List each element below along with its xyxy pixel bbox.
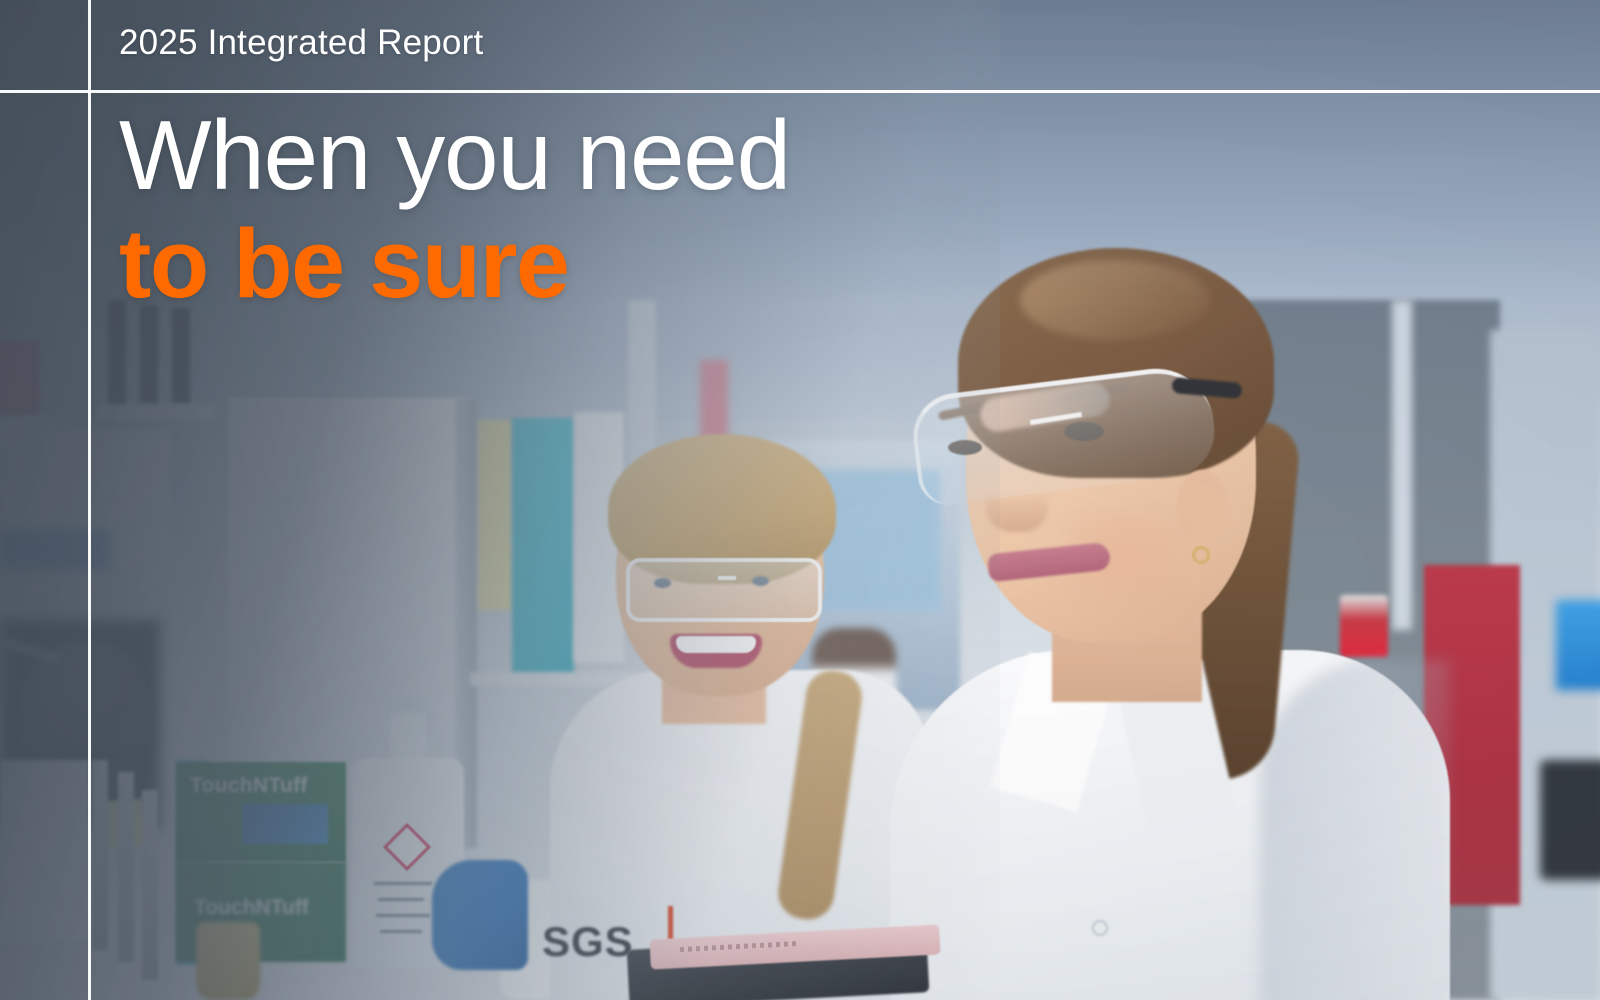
hair-highlight [1020,260,1210,340]
vertical-rule [88,0,91,1000]
glove-box-label: TouchNTuff [190,774,308,798]
yellow-shelf-item [478,420,512,610]
blue-monitor-screen [1556,600,1600,690]
glove-box-swatch [242,804,328,844]
cover-headline: When you need to be sure [119,105,790,314]
instrument-panel [0,760,90,940]
glove-box-label: TouchNTuff [194,896,309,920]
pipette [92,760,108,950]
rack-base [0,415,52,449]
foreground-scientist [880,230,1480,1000]
headline-line-2-accent: to be sure [119,214,790,314]
pipette [142,790,158,980]
dark-lab-equipment [1540,760,1600,880]
shelf-strut [172,308,190,404]
horizontal-rule [0,90,1600,93]
earring [1192,546,1210,564]
safety-glasses-icon [626,558,822,622]
glove-box-upper: TouchNTuff [176,762,346,862]
lab-coat-shadow [1260,660,1450,1000]
ear [1176,470,1228,548]
pipette [118,772,134,962]
report-eyebrow-title: 2025 Integrated Report [119,24,483,63]
pink-tube-rack [0,340,40,420]
amber-flask [196,922,260,1000]
report-cover-page: TouchNTuff TouchNTuff SGS [0,0,1600,1000]
background-scientist: SGS [520,420,940,1000]
blue-gloved-hand [432,860,528,970]
teeth [676,636,756,653]
headline-line-1: When you need [119,105,790,206]
coat-button [1092,920,1108,936]
left-blue-tray [0,530,110,570]
shelf-board [96,404,216,420]
bottle-neck [390,712,426,762]
shelf-strut [140,305,158,405]
